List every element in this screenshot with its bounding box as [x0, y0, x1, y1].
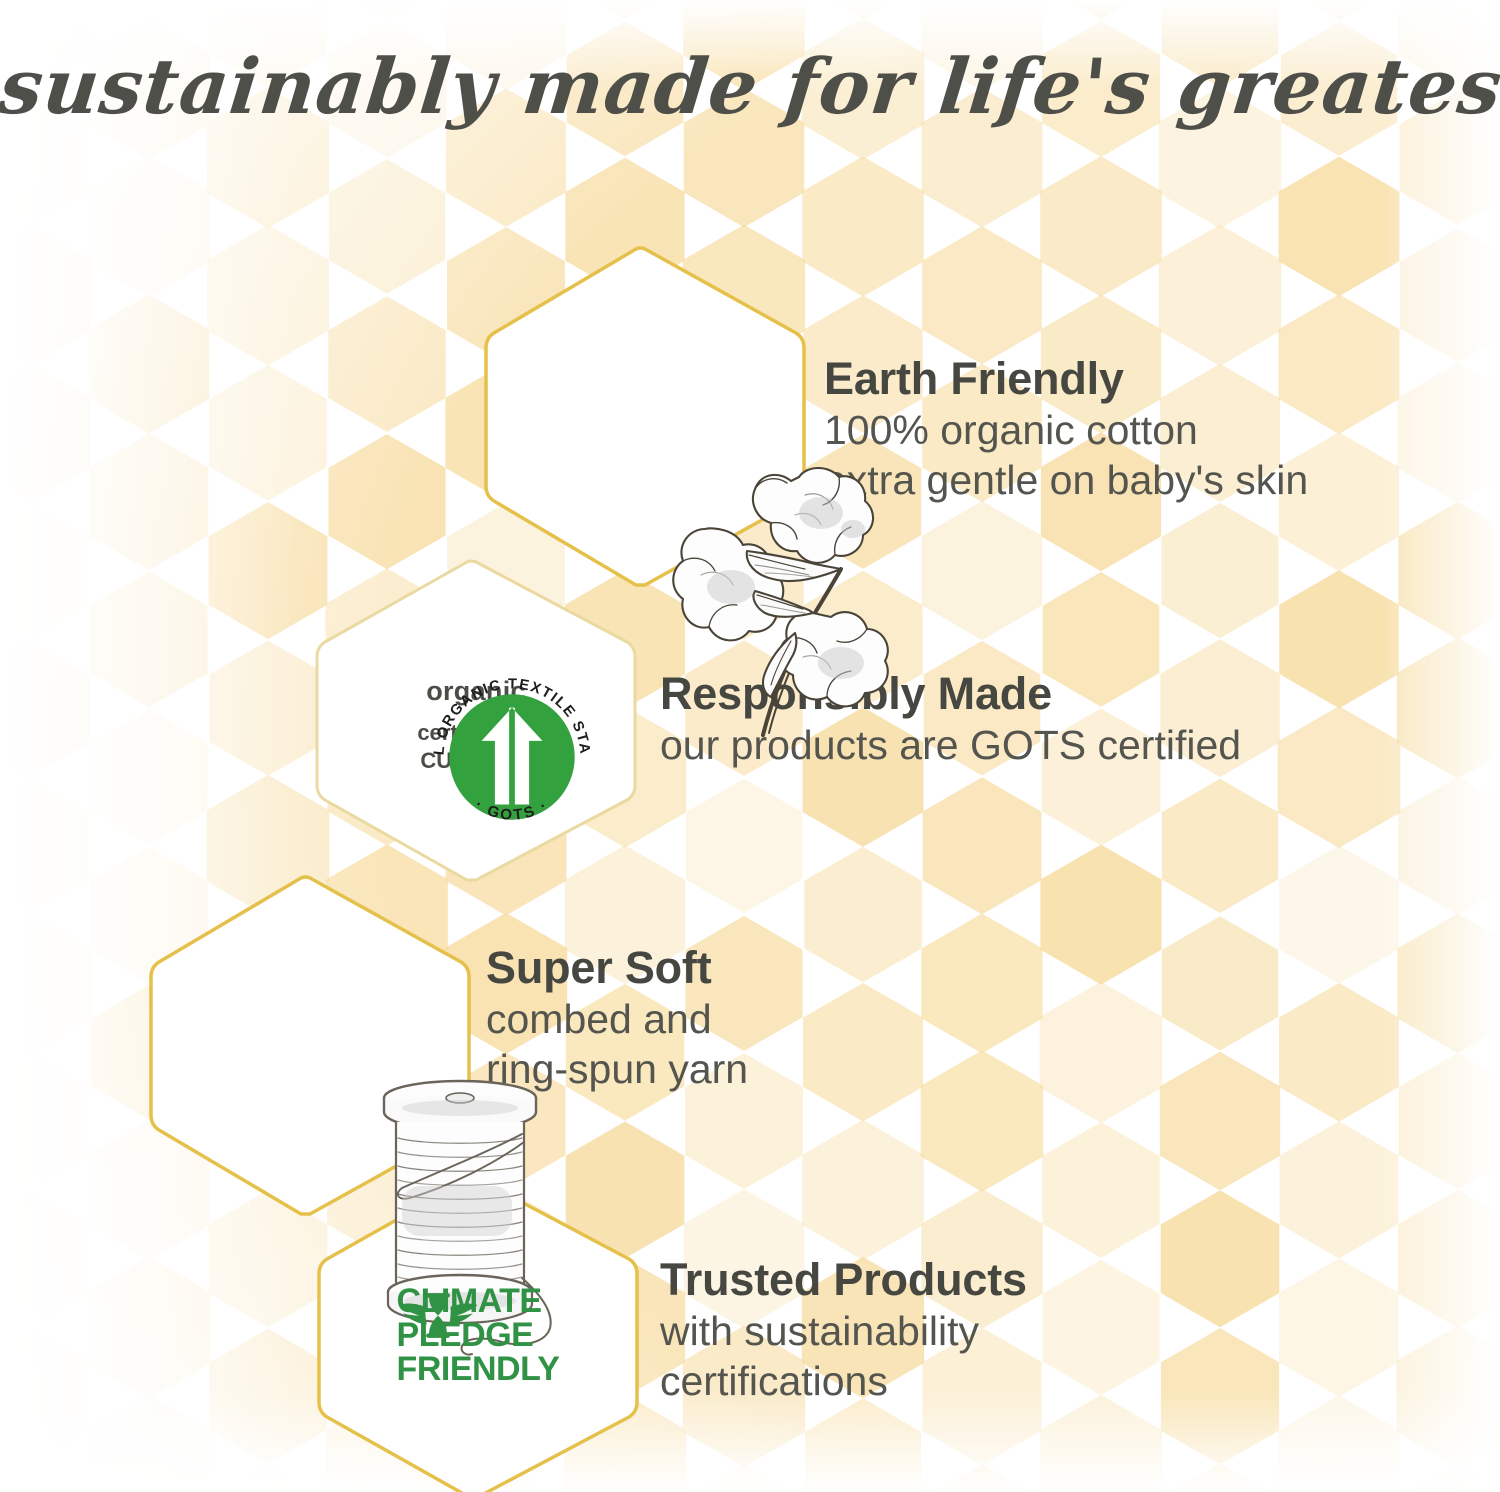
honeycomb-cell	[803, 983, 923, 1122]
honeycomb-cell	[1159, 225, 1281, 366]
honeycomb-cell	[802, 156, 923, 296]
honeycomb-cell	[1398, 502, 1500, 640]
honeycomb-cell	[922, 226, 1042, 364]
honeycomb-cell	[1398, 777, 1500, 915]
honeycomb-cell	[328, 434, 445, 569]
cotton-branch-icon	[645, 417, 945, 747]
honeycomb-cell	[0, 1053, 89, 1190]
honeycomb-cell	[1399, 1053, 1500, 1190]
honeycomb-cell	[1397, 363, 1500, 503]
gots-badge: GLOBAL ORGANIC TEXTILE STANDARD · GOTS ·…	[417, 662, 534, 774]
honeycomb-cell	[805, 1398, 921, 1492]
honeycomb-cell	[88, 0, 210, 22]
feature-title: Earth Friendly	[824, 352, 1308, 405]
honeycomb-cell	[922, 1464, 1043, 1492]
honeycomb-cell	[1161, 503, 1278, 638]
honeycomb-cell	[0, 364, 90, 503]
hexagon-card-super-soft	[145, 872, 475, 1220]
honeycomb-cell	[0, 913, 91, 1054]
honeycomb-cell	[1160, 1052, 1280, 1191]
honeycomb-cell	[1161, 1190, 1280, 1327]
honeycomb-cell	[88, 156, 210, 298]
honeycomb-cell	[329, 159, 445, 293]
honeycomb-cell	[209, 365, 326, 501]
honeycomb-cell	[567, 0, 683, 18]
honeycomb-cell	[1161, 1328, 1279, 1465]
gots-certification-icon: GLOBAL ORGANIC TEXTILE STANDARD · GOTS ·	[417, 662, 607, 852]
honeycomb-cell	[1042, 1260, 1159, 1395]
honeycomb-cell	[1040, 982, 1162, 1123]
feature-title: Super Soft	[486, 941, 748, 994]
honeycomb-cell	[1398, 1190, 1500, 1328]
honeycomb-cell	[1040, 845, 1161, 985]
honeycomb-cell	[1159, 1464, 1280, 1492]
honeycomb-cell	[0, 502, 89, 638]
feature-title: Trusted Products	[660, 1253, 1027, 1306]
honeycomb-cell	[1279, 846, 1399, 984]
feature-subtitle-line-1: combed and	[486, 994, 748, 1044]
honeycomb-cell	[1279, 157, 1400, 297]
honeycomb-cell	[91, 710, 208, 845]
honeycomb-cell	[804, 847, 921, 983]
honeycomb-cell	[1279, 1395, 1400, 1492]
climate-pledge-friendly-badge: CLIMATE PLEDGE FRIENDLY	[397, 1284, 560, 1386]
honeycomb-cell	[1040, 1395, 1162, 1492]
honeycomb-cell	[0, 779, 88, 913]
honeycomb-cell	[1042, 0, 1160, 19]
honeycomb-cell	[88, 1395, 210, 1492]
honeycomb-cell	[1279, 983, 1399, 1122]
headline-text: sustainably made for life's greatest joy	[0, 42, 1500, 131]
honeycomb-cell	[686, 779, 802, 913]
honeycomb-cell	[210, 1329, 327, 1464]
honeycomb-cell	[1397, 1326, 1500, 1468]
honeycomb-cell	[0, 1463, 91, 1492]
honeycomb-cell	[921, 1050, 1044, 1192]
honeycomb-cell	[1398, 914, 1500, 1054]
sustainability-infographic: sustainably made for life's greatest joy…	[0, 0, 1500, 1492]
feature-subtitle-line-2: certifications	[660, 1356, 1027, 1406]
honeycomb-cell	[1280, 0, 1399, 20]
honeycomb-cell	[329, 0, 446, 19]
honeycomb-cell	[684, 1465, 804, 1492]
hexagon-card-responsibly-made: GLOBAL ORGANIC TEXTILE STANDARD · GOTS ·…	[310, 556, 642, 886]
feature-text-trusted-products: Trusted Products with sustainability cer…	[660, 1253, 1027, 1406]
winged-hourglass-icon	[397, 1284, 479, 1356]
honeycomb-cell	[207, 225, 329, 366]
honeycomb-cell	[90, 572, 207, 708]
honeycomb-cell	[802, 1120, 924, 1260]
honeycomb-cell	[0, 1191, 88, 1326]
page-headline: sustainably made for life's greatest joy…	[0, 42, 1500, 131]
hexagon-card-earth-friendly	[480, 243, 810, 591]
honeycomb-cell	[1040, 156, 1162, 296]
honeycomb-cell	[1280, 1121, 1399, 1258]
honeycomb-cell	[1397, 638, 1500, 779]
feature-subtitle-line-1: with sustainability	[660, 1306, 1027, 1356]
honeycomb-cell	[1279, 570, 1399, 708]
cpf-line-3: FRIENDLY	[397, 1352, 560, 1386]
honeycomb-cell	[805, 0, 922, 19]
honeycomb-cell	[89, 295, 209, 434]
honeycomb-cell	[0, 640, 89, 776]
honeycomb-cell	[1042, 1122, 1159, 1258]
honeycomb-cell	[0, 1329, 88, 1464]
honeycomb-cell	[921, 914, 1042, 1054]
honeycomb-cell	[88, 1257, 211, 1399]
honeycomb-cell	[0, 225, 91, 366]
honeycomb-cell	[1398, 1465, 1500, 1492]
honeycomb-cell	[1162, 779, 1278, 913]
honeycomb-cell	[1278, 706, 1401, 848]
honeycomb-cell	[923, 777, 1042, 914]
honeycomb-cell	[1400, 228, 1500, 362]
honeycomb-cell	[328, 296, 445, 432]
honeycomb-cell	[90, 433, 208, 570]
honeycomb-cell	[208, 1465, 328, 1492]
honeycomb-cell	[1279, 1258, 1399, 1396]
honeycomb-cell	[1162, 916, 1278, 1050]
